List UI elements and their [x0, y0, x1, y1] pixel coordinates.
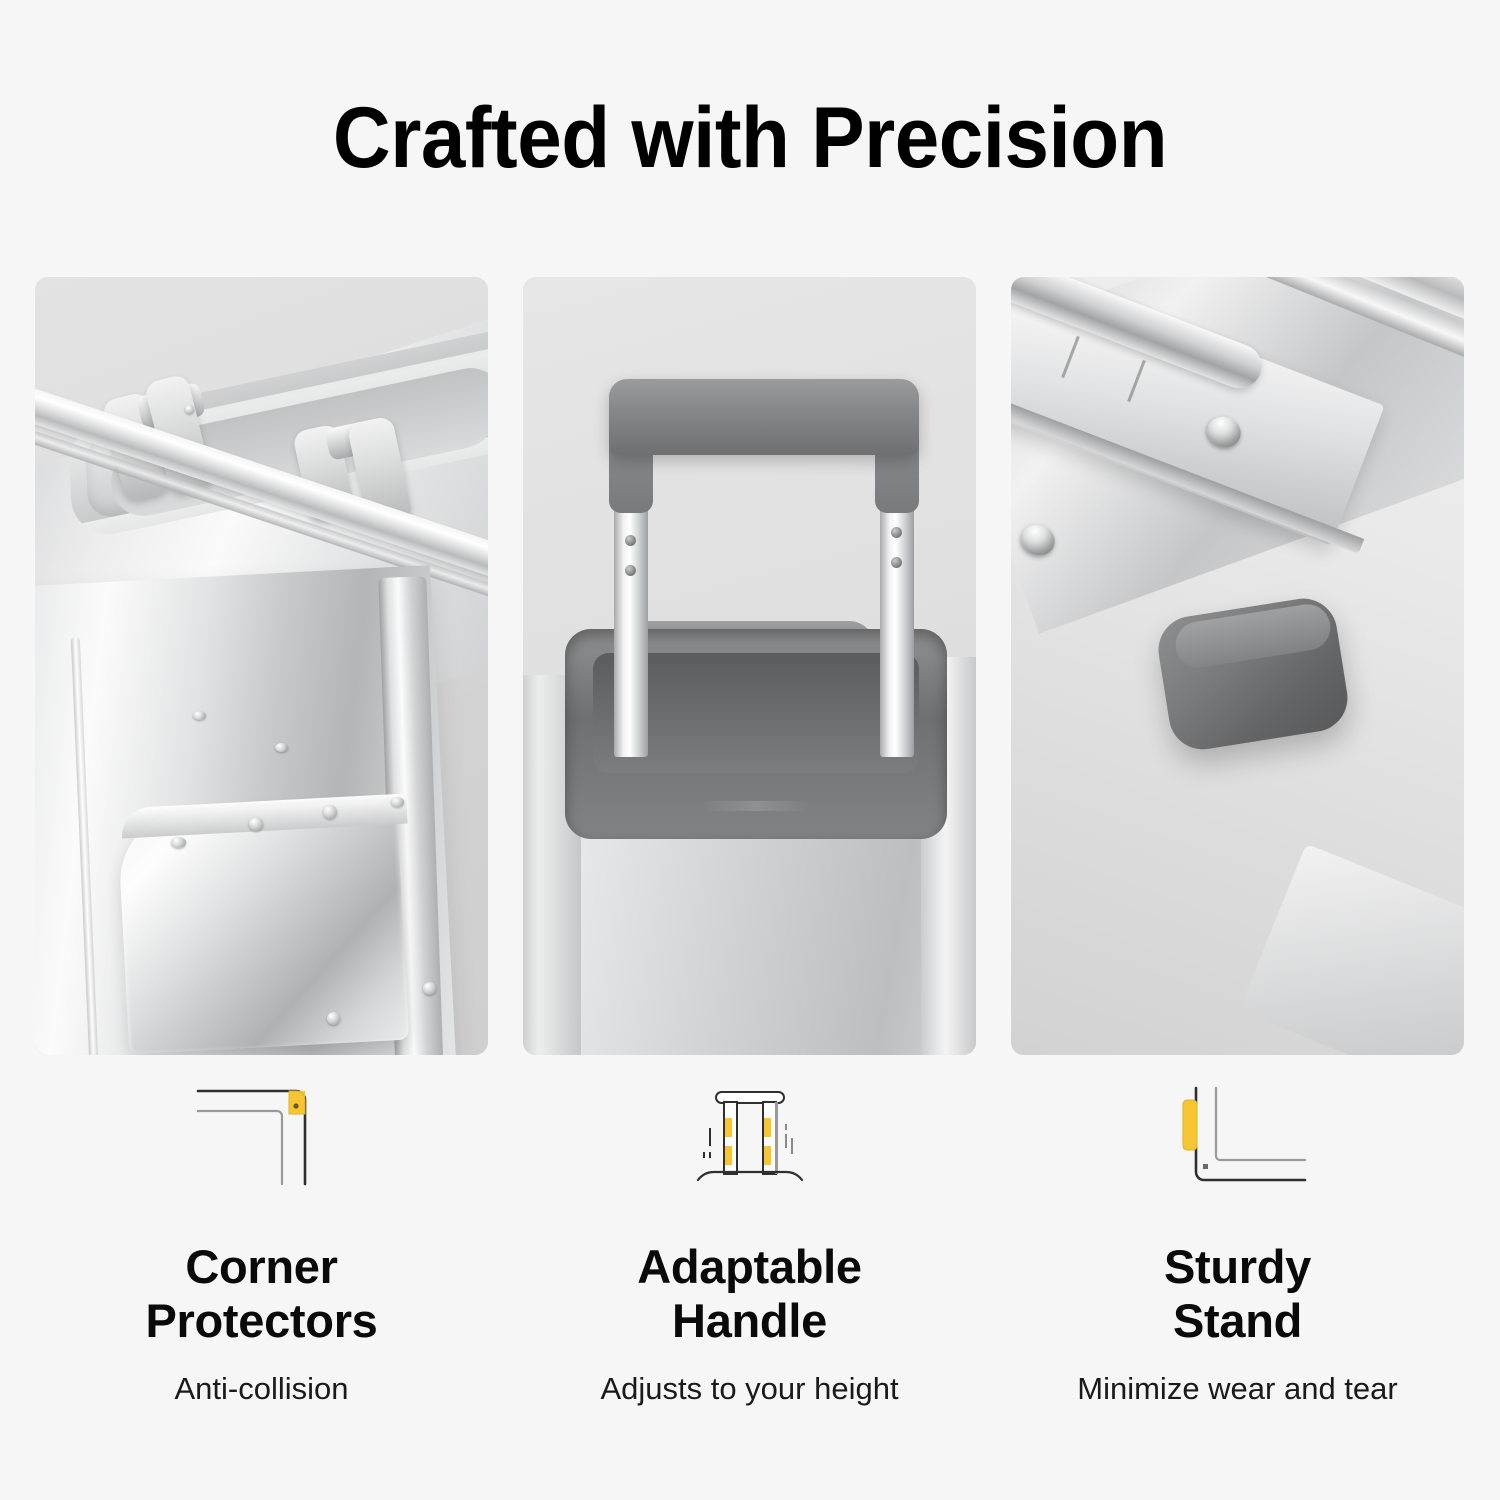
panel-corner-protector	[35, 277, 488, 1055]
adaptable-handle-icon-wrap	[680, 1080, 820, 1192]
feature-corner-protectors: Corner Protectors Anti-collision	[35, 1080, 488, 1408]
corner-rivet	[171, 837, 186, 848]
frame-rivet	[423, 982, 436, 995]
sturdy-stand-icon-wrap	[1163, 1080, 1313, 1192]
lower-frame-band	[1239, 844, 1464, 1055]
corner-rivet	[249, 817, 263, 831]
handle-adjust-button	[891, 557, 902, 568]
frame-rivet	[193, 711, 206, 720]
feature-title-line-1: Sturdy	[1164, 1240, 1311, 1293]
feature-title: Adaptable Handle	[637, 1240, 862, 1348]
hinge-rivet	[185, 405, 194, 414]
feature-adaptable-handle: Adaptable Handle Adjusts to your height	[523, 1080, 976, 1408]
frame-rivet	[275, 743, 288, 752]
hinge-and-stand-foot-photo	[1011, 277, 1464, 1055]
corner-protector-icon	[192, 1080, 332, 1192]
corner-protector-plate	[117, 800, 409, 1054]
feature-subtitle: Anti-collision	[174, 1370, 348, 1408]
frame-rivet	[391, 797, 404, 807]
feature-title-line-1: Adaptable	[637, 1240, 862, 1293]
photo-panel-row	[35, 277, 1465, 1055]
page-title: Crafted with Precision	[53, 86, 1448, 190]
corner-rivet	[323, 805, 337, 819]
suitcase-corner-protector-photo	[35, 277, 488, 1055]
handle-post-right	[880, 505, 914, 757]
feature-title-line-2: Handle	[672, 1294, 827, 1347]
brand-emboss	[701, 801, 811, 811]
feature-title: Sturdy Stand	[1164, 1240, 1311, 1348]
sturdy-stand-icon	[1163, 1080, 1313, 1192]
handle-adjust-button	[625, 565, 636, 576]
panel-adaptable-handle	[523, 277, 976, 1055]
corner-protector-icon-wrap	[192, 1080, 332, 1192]
adaptable-handle-icon	[680, 1080, 820, 1192]
feature-title-line-1: Corner	[185, 1240, 337, 1293]
feature-row: Corner Protectors Anti-collision	[35, 1080, 1465, 1408]
feature-title-line-2: Stand	[1173, 1294, 1302, 1347]
panel-sturdy-stand	[1011, 277, 1464, 1055]
feature-sturdy-stand: Sturdy Stand Minimize wear and tear	[1011, 1080, 1464, 1408]
feature-subtitle: Minimize wear and tear	[1077, 1370, 1397, 1408]
frame-rivet	[327, 1012, 340, 1025]
handle-grip-bar	[609, 379, 919, 455]
feature-title-line-2: Protectors	[145, 1294, 377, 1347]
handle-adjust-button	[891, 527, 902, 538]
handle-adjust-button	[625, 535, 636, 546]
telescoping-handle-photo	[523, 277, 976, 1055]
infographic-page: Crafted with Precision	[0, 0, 1500, 1500]
feature-title: Corner Protectors	[145, 1240, 377, 1348]
feature-subtitle: Adjusts to your height	[600, 1370, 898, 1408]
